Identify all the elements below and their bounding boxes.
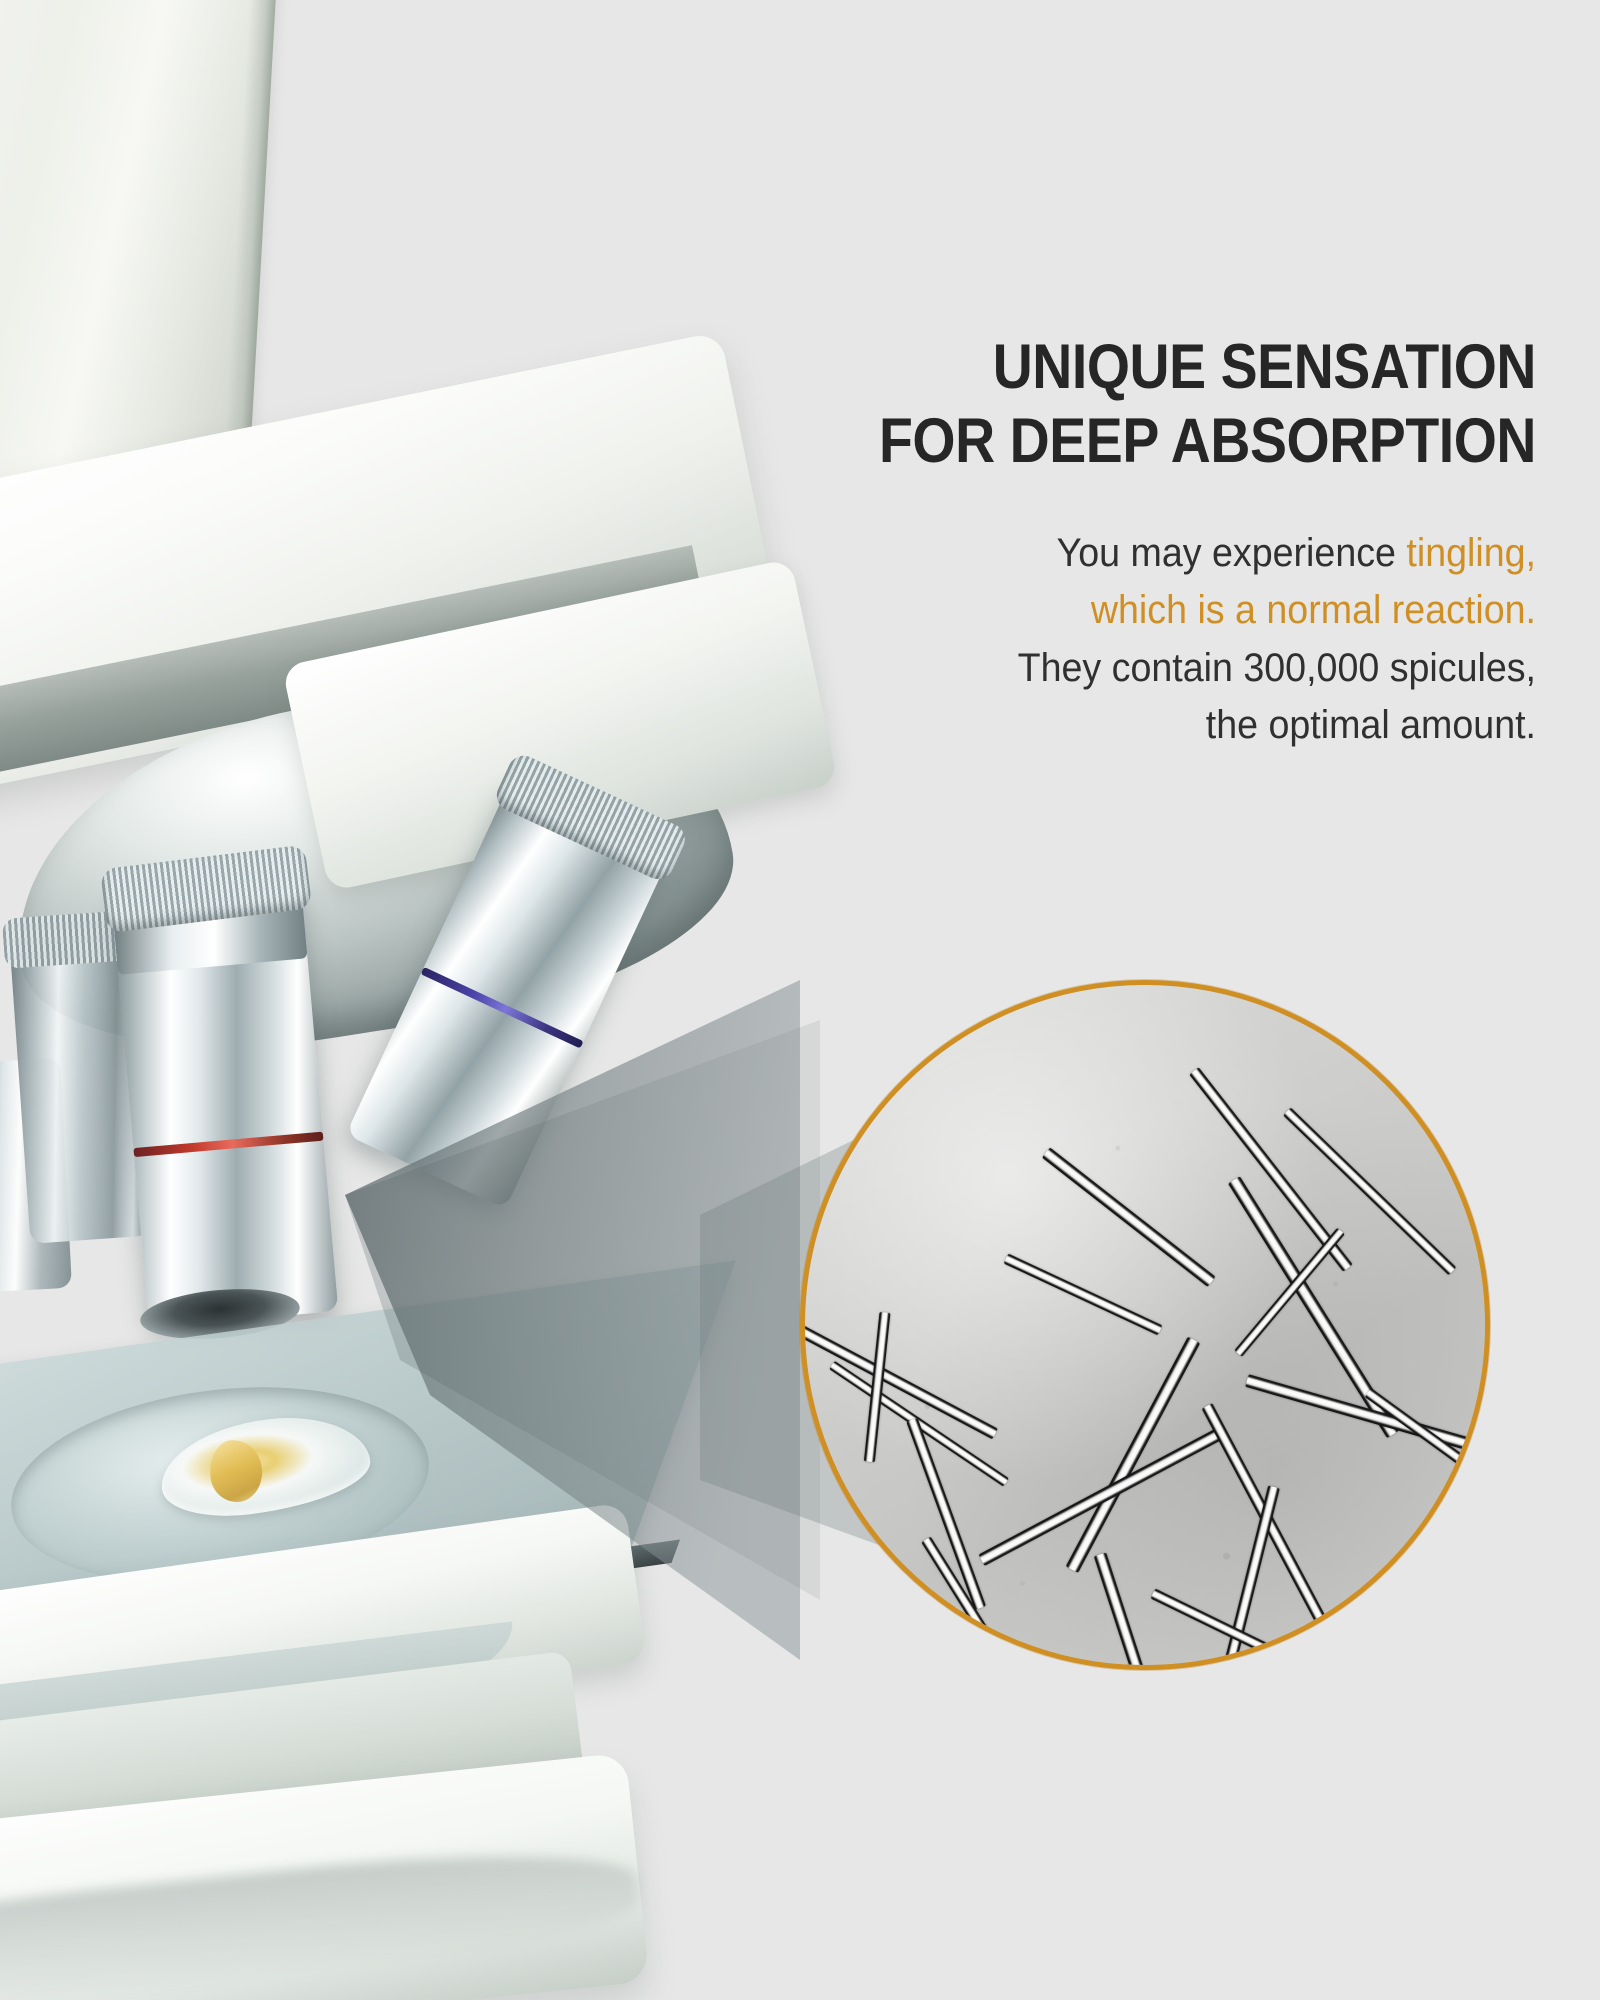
objective-band-blue [421,967,584,1049]
subcopy-line-2: which is a normal reaction. [671,582,1536,640]
headline-line-2: FOR DEEP ABSORPTION [726,404,1536,478]
page-title: UNIQUE SENSATION FOR DEEP ABSORPTION [726,330,1536,479]
subcopy-line-1-plain: You may experience [1057,531,1407,575]
spicule-needle [979,1428,1223,1566]
spicule-needle [1284,1107,1457,1275]
spicule-needle [1094,1552,1174,1665]
objective-lens-red [112,883,339,1328]
subcopy-line-3: They contain 300,000 spicules, [671,640,1536,698]
subcopy-block: You may experience tingling, which is a … [671,525,1536,755]
subcopy-line-1-accent: tingling, [1406,531,1536,575]
headline-line-1: UNIQUE SENSATION [726,330,1536,404]
objective-band-red [133,1132,323,1158]
subcopy-line-1: You may experience tingling, [671,525,1536,583]
spicule-needle [805,1321,998,1440]
subcopy-line-4: the optimal amount. [671,697,1536,755]
microscope-field-inset [800,980,1490,1670]
microscope-illustration [0,0,860,2000]
spicule-needle [1042,1147,1215,1287]
promo-banner: UNIQUE SENSATION FOR DEEP ABSORPTION You… [0,0,1600,2000]
spicule-needle [1004,1254,1163,1336]
spicule-needles [805,985,1485,1665]
copy-block: UNIQUE SENSATION FOR DEEP ABSORPTION You… [616,330,1536,755]
